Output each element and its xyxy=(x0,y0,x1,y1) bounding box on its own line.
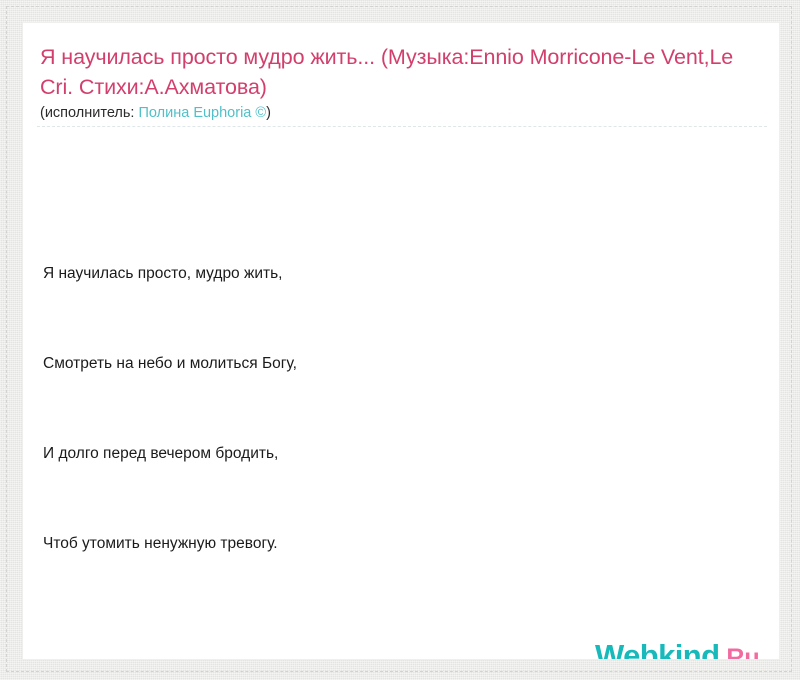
lyrics-card: Я научилась просто мудро жить... (Музыка… xyxy=(22,22,780,660)
lyrics-body: Я научилась просто, мудро жить, Смотреть… xyxy=(43,139,743,660)
performer-line: (исполнитель: Полина Euphoria ©) xyxy=(40,104,271,122)
performer-label: (исполнитель: xyxy=(40,105,134,121)
site-logo[interactable]: Webkind.Ru тексты песен xyxy=(595,639,780,660)
lyrics-line: Чтоб утомить ненужную тревогу. xyxy=(43,529,743,559)
lyrics-line: Смотреть на небо и молиться Богу, xyxy=(43,349,743,379)
page-title: Я научилась просто мудро жить... (Музыка… xyxy=(40,42,764,102)
lyrics-line: Я научилась просто, мудро жить, xyxy=(43,259,743,289)
lyrics-line: И долго перед вечером бродить, xyxy=(43,439,743,469)
performer-link[interactable]: Полина Euphoria © xyxy=(138,105,266,121)
site-logo-wordmark: Webkind.Ru xyxy=(595,639,760,660)
performer-paren-close: ) xyxy=(266,105,271,121)
site-logo-tld: .Ru xyxy=(719,644,759,660)
lyrics-stanza: Я научилась просто, мудро жить, Смотреть… xyxy=(43,199,743,619)
site-logo-name: Webkind xyxy=(595,638,719,660)
header-divider xyxy=(37,126,767,127)
